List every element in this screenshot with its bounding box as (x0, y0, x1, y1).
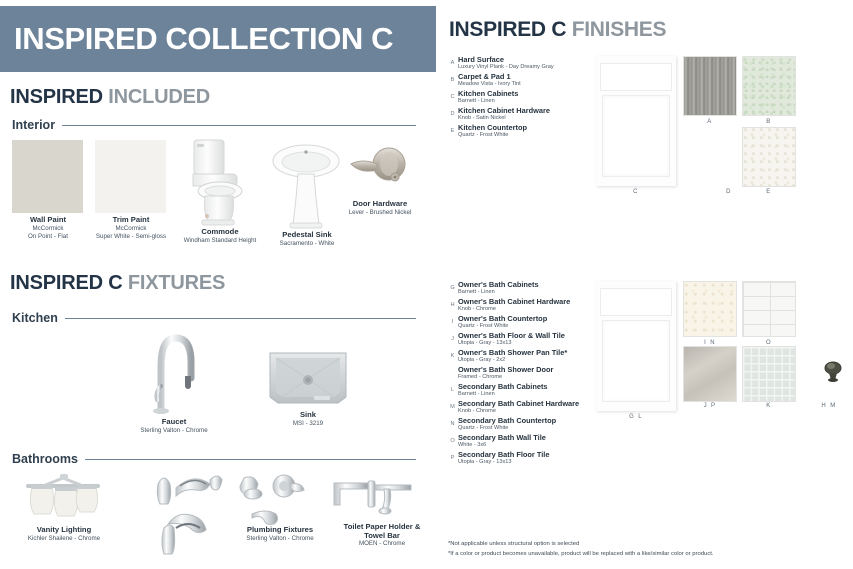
bath-faucet-icon (152, 466, 228, 558)
legend-item: O Secondary Bath Wall Tile White - 3x6 (447, 433, 622, 449)
cabinet-panel (602, 95, 669, 177)
right-column: INSPIRED C FINISHES A Hard Surface Luxur… (436, 0, 853, 569)
caption-commode: Commode Windham Standard Height (178, 228, 262, 245)
interior-subhead: Interior (12, 118, 416, 132)
kitchen-subhead: Kitchen (12, 311, 416, 325)
swatch-kitchen-countertop (742, 127, 796, 187)
included-heading: INSPIRED INCLUDED (10, 86, 210, 109)
legend-letter: A (447, 60, 458, 66)
legend-name: Secondary Bath Wall Tile (458, 433, 622, 442)
legend-letter: L (447, 387, 458, 393)
fixtures-heading-light: FIXTURES (128, 272, 225, 294)
collection-sheet: INSPIRED COLLECTION C INSPIRED INCLUDED … (0, 0, 853, 569)
towel-bar-icon (328, 475, 420, 523)
legend-letter: B (447, 77, 458, 83)
legend-letter: J (447, 336, 458, 342)
finishes-heading-light: FINISHES (572, 18, 666, 41)
swatch-bath-countertop (683, 281, 737, 337)
legend-sub: Utopia - Gray - 13x13 (458, 459, 622, 466)
caption-vanity-lighting: Vanity Lighting Kichler Shailene - Chrom… (18, 526, 110, 543)
interior-subhead-label: Interior (12, 118, 55, 132)
fixtures-heading-bold: INSPIRED C (10, 272, 122, 294)
fixtures-heading: INSPIRED C FIXTURES (10, 272, 225, 295)
swatch-label-a: A (683, 119, 737, 125)
page-title: INSPIRED COLLECTION C (14, 20, 393, 58)
swatch-kitchen-cabinet-door (596, 56, 676, 186)
header-banner: INSPIRED COLLECTION C (0, 6, 436, 72)
caption-trim-paint: Trim Paint McCormick Super White - Semi-… (82, 216, 180, 242)
vanity-light-icon (18, 472, 108, 524)
swatch-label-jp: J P (683, 403, 737, 409)
caption-faucet: Faucet Sterling Valton - Chrome (133, 418, 215, 435)
kitchen-subhead-label: Kitchen (12, 311, 58, 325)
swatch-label-b: B (742, 119, 796, 125)
interior-rule (62, 125, 416, 126)
legend-sub: Quartz - Frost White (458, 425, 622, 432)
caption-sink: Sink MSI - 3219 (272, 411, 344, 428)
legend-letter: D (447, 111, 458, 117)
legend-letter: C (447, 94, 458, 100)
caption-plumbing-fixtures: Plumbing Fixtures Sterling Valton - Chro… (232, 526, 328, 543)
knob-chrome-icon (821, 360, 845, 382)
kitchen-rule (65, 318, 416, 319)
swatch-label-e: E (742, 189, 796, 195)
door-lever-icon (345, 140, 415, 200)
kitchen-faucet-icon (145, 326, 201, 414)
cabinet-drawer (600, 288, 672, 316)
shower-trim-icon (238, 472, 314, 532)
footnotes: *Not applicable unless structural option… (448, 540, 848, 559)
caption-pedestal-sink: Pedestal Sink Sacramento - White (262, 231, 352, 248)
cabinet-drawer (600, 63, 672, 91)
legend-sub: White - 3x6 (458, 442, 622, 449)
legend-letter: E (447, 128, 458, 134)
legend-letter: M (447, 404, 458, 410)
legend-letter: I (447, 319, 458, 325)
legend-item: P Secondary Bath Floor Tile Utopia - Gra… (447, 450, 622, 466)
bathrooms-rule (85, 459, 416, 460)
swatch-trim-paint (95, 140, 166, 213)
swatch-bath-cabinet-door (596, 281, 676, 411)
bathrooms-subhead-label: Bathrooms (12, 452, 78, 466)
swatch-carpet (742, 56, 796, 116)
left-column: INSPIRED COLLECTION C INSPIRED INCLUDED … (0, 0, 436, 569)
swatch-label-gl: G L (596, 414, 676, 420)
swatch-label-hm: H M (807, 403, 851, 409)
legend-letter: N (447, 421, 458, 427)
caption-wall-paint: Wall Paint McCormick On Point - Flat (7, 216, 89, 242)
swatch-wall-paint (12, 140, 83, 213)
legend-letter: P (447, 455, 458, 461)
swatch-secondary-wall-tile (742, 281, 796, 337)
swatch-label-c: C (596, 189, 676, 195)
footnote-1: *Not applicable unless structural option… (448, 540, 848, 550)
included-heading-bold: INSPIRED (10, 86, 103, 108)
toilet-icon (188, 136, 250, 228)
swatch-shower-pan-mosaic (742, 346, 796, 402)
legend-name: Secondary Bath Floor Tile (458, 450, 622, 459)
finishes-heading: INSPIRED C FINISHES (449, 18, 666, 42)
included-heading-light: INCLUDED (108, 86, 210, 108)
pedestal-sink-icon (270, 138, 342, 230)
legend-letter: H (447, 302, 458, 308)
swatch-label-k: K (742, 403, 796, 409)
legend-letter: O (447, 438, 458, 444)
footnote-2: *If a color or product becomes unavailab… (448, 550, 848, 560)
caption-toilet-paper-holder: Toilet Paper Holder & Towel Bar MOEN - C… (330, 523, 434, 549)
cabinet-panel (602, 320, 669, 402)
caption-door-hardware: Door Hardware Lever - Brushed Nickel (338, 200, 422, 217)
finishes-heading-bold: INSPIRED C (449, 18, 566, 41)
kitchen-sink-icon (268, 347, 348, 409)
swatch-hard-surface (683, 56, 737, 116)
bathrooms-subhead: Bathrooms (12, 452, 416, 466)
legend-letter: K (447, 353, 458, 359)
legend-letter: G (447, 285, 458, 291)
swatch-bath-floor-tile (683, 346, 737, 402)
